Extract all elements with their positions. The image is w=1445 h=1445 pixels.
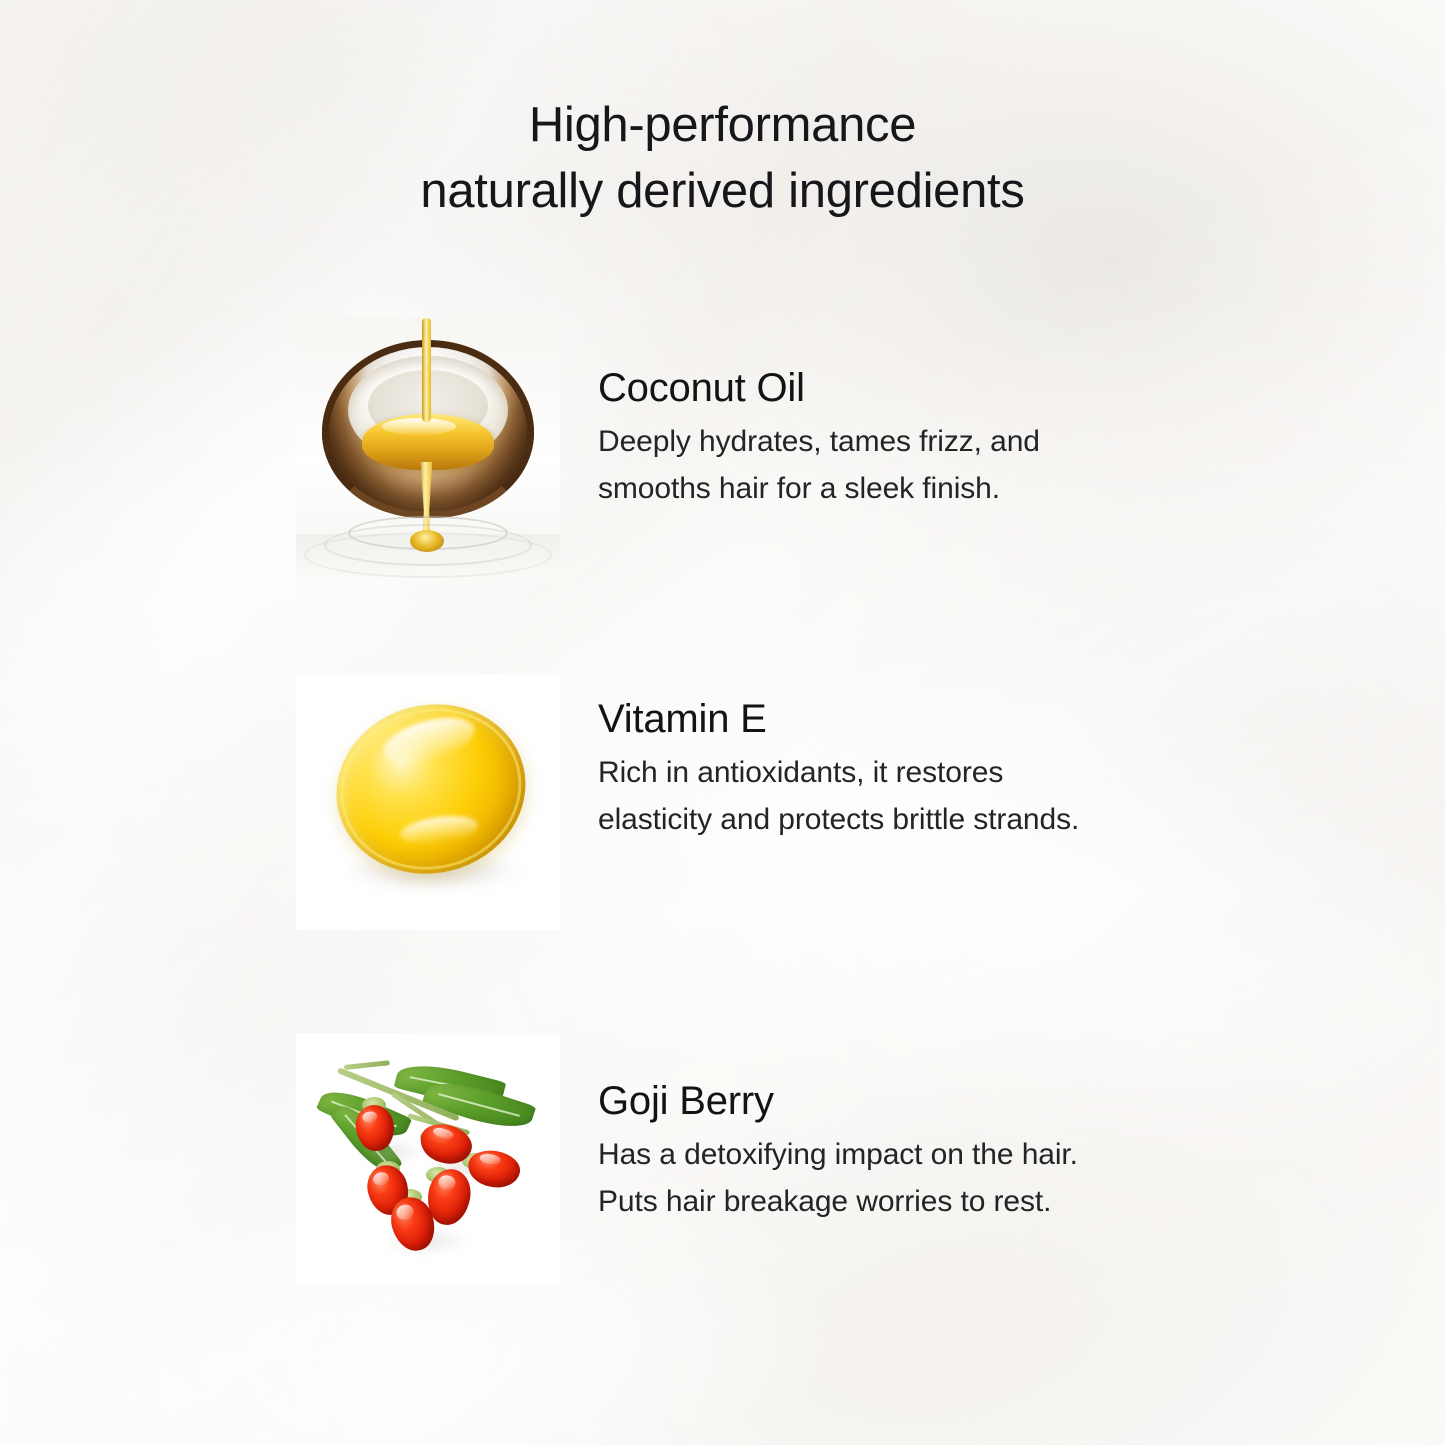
goji-berry-text: Goji Berry Has a detoxifying impact on t…	[598, 1033, 1078, 1225]
ingredient-description: Rich in antioxidants, it restores elasti…	[598, 749, 1079, 843]
ingredient-list: Coconut Oil Deeply hydrates, tames frizz…	[0, 0, 1445, 1445]
ingredients-infographic: High-performance naturally derived ingre…	[0, 0, 1445, 1445]
oil-stream-pouring-in	[422, 318, 431, 422]
description-line-1: Rich in antioxidants, it restores	[598, 749, 1079, 796]
ingredient-item-coconut-oil: Coconut Oil Deeply hydrates, tames frizz…	[296, 318, 1040, 578]
ingredient-description: Has a detoxifying impact on the hair. Pu…	[598, 1131, 1078, 1225]
description-line-2: smooths hair for a sleek finish.	[598, 465, 1040, 512]
goji-berry	[465, 1147, 522, 1191]
description-line-2: elasticity and protects brittle strands.	[598, 796, 1079, 843]
coconut-oil-pool-highlight	[382, 418, 456, 435]
oil-droplet	[410, 530, 444, 552]
goji-berry-illustration	[296, 1033, 560, 1285]
vitamin-e-capsule-photo	[296, 675, 560, 930]
coconut-illustration	[296, 318, 560, 578]
coconut-oil-text: Coconut Oil Deeply hydrates, tames frizz…	[598, 318, 1040, 512]
description-line-1: Has a detoxifying impact on the hair.	[598, 1131, 1078, 1178]
goji-berry-photo	[296, 1033, 560, 1285]
ingredient-title: Coconut Oil	[598, 364, 1040, 412]
ingredient-item-goji-berry: Goji Berry Has a detoxifying impact on t…	[296, 1033, 1078, 1285]
ingredient-title: Goji Berry	[598, 1077, 1078, 1125]
description-line-2: Puts hair breakage worries to rest.	[598, 1178, 1078, 1225]
ingredient-description: Deeply hydrates, tames frizz, and smooth…	[598, 418, 1040, 512]
description-line-1: Deeply hydrates, tames frizz, and	[598, 418, 1040, 465]
ingredient-item-vitamin-e: Vitamin E Rich in antioxidants, it resto…	[296, 675, 1079, 930]
vitamin-e-text: Vitamin E Rich in antioxidants, it resto…	[598, 675, 1079, 843]
coconut-oil-photo	[296, 318, 560, 578]
goji-stem	[344, 1060, 390, 1070]
ingredient-title: Vitamin E	[598, 695, 1079, 743]
vitamin-e-illustration	[296, 675, 560, 930]
